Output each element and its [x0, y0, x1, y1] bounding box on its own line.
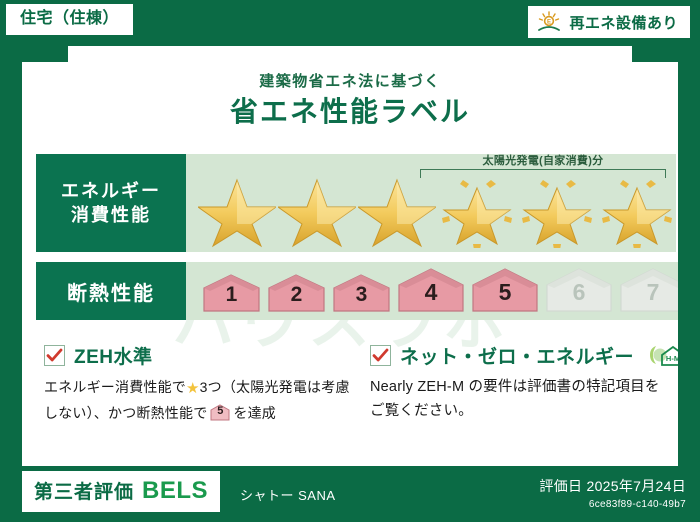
check-icon: [372, 347, 389, 364]
label-panel: ハウスラボ 建築物省エネ法に基づく 省エネ性能ラベル エネルギー 消費性能 太陽…: [22, 46, 678, 466]
property-name: シャトー SANA: [240, 485, 336, 504]
svg-text:ZEH-M: ZEH-M: [688, 359, 700, 364]
star-filled-solar: [518, 174, 596, 248]
nzeb-description: Nearly ZEH-M の要件は評価書の特記項目をご覧ください。: [370, 376, 670, 424]
nzeb-checkbox[interactable]: [370, 345, 391, 366]
star-filled-solar: [598, 174, 676, 248]
label-title: 省エネ性能ラベル: [22, 90, 678, 130]
star-filled: [278, 174, 356, 248]
nearly-zeh-m-logo: H-M Nearly ZEH-M: [647, 343, 700, 369]
svg-text:E: E: [547, 20, 551, 26]
label-subtitle: 建築物省エネ法に基づく: [22, 70, 678, 91]
energy-performance-label: 住宅（住棟） E 再エネ設備あり ハウスラボ 建築物省エネ法に基づく 省エネ性能…: [0, 0, 700, 522]
bels-logo-text: BELS: [142, 477, 208, 505]
inline-house-badge: 5: [209, 404, 231, 421]
insulation-level-value: 4: [395, 279, 467, 306]
insulation-level-value: 7: [617, 279, 689, 306]
insulation-level-2: 2: [265, 274, 328, 314]
insulation-level-5: 5: [469, 268, 541, 314]
zeh-description: エネルギー消費性能で★3つ（太陽光発電は考慮しない）、かつ断熱性能で 5 を達成: [44, 376, 362, 425]
insulation-level-value: 1: [200, 283, 263, 307]
inline-star-icon: ★: [186, 380, 200, 397]
zeh-desc-part-a: エネルギー消費性能で: [44, 379, 186, 395]
insulation-performance-label: 断熱性能: [36, 262, 186, 320]
bels-evaluation-box: 第三者評価 BELS: [22, 471, 220, 512]
svg-text:Nearly: Nearly: [688, 354, 700, 359]
building-type-tag: 住宅（住棟）: [6, 4, 133, 35]
insulation-performance-row: 断熱性能 1 2: [36, 262, 664, 320]
inline-house-badge-value: 5: [209, 402, 231, 420]
net-zero-energy-block: ネット・ゼロ・エネルギー H-M Nearly ZEH-M Nearly ZEH…: [370, 342, 670, 424]
insulation-level-value: 3: [330, 283, 393, 307]
zeh-heading: ZEH水準: [74, 342, 153, 369]
insulation-rating-area: 1 2 3: [186, 262, 689, 320]
energy-rating-area: 太陽光発電(自家消費)分: [186, 154, 676, 252]
energy-label-line1: エネルギー: [61, 179, 161, 203]
energy-star-rating: [186, 174, 676, 248]
insulation-level-7: 7: [617, 268, 689, 314]
insulation-level-scale: 1 2 3: [186, 268, 689, 314]
insulation-level-1: 1: [200, 274, 263, 314]
solar-portion-label: 太陽光発電(自家消費)分: [420, 155, 666, 167]
insulation-level-value: 6: [543, 279, 615, 306]
nzeb-heading: ネット・ゼロ・エネルギー: [400, 342, 634, 369]
renewable-badge-label: 再エネ設備あり: [569, 12, 678, 33]
energy-performance-row: エネルギー 消費性能 太陽光発電(自家消費)分: [36, 154, 664, 252]
solar-sun-icon: E: [536, 11, 562, 33]
zeh-desc-part-d: を達成: [233, 405, 276, 421]
nzeb-heading-row: ネット・ゼロ・エネルギー H-M Nearly ZEH-M: [370, 342, 670, 369]
evaluation-date: 評価日 2025年7月24日: [539, 476, 686, 496]
energy-label-line2: 消費性能: [71, 203, 151, 227]
zeh-standard-block: ZEH水準 エネルギー消費性能で★3つ（太陽光発電は考慮しない）、かつ断熱性能で…: [44, 342, 362, 425]
zeh-heading-row: ZEH水準: [44, 342, 362, 369]
insulation-level-value: 5: [469, 279, 541, 306]
renewable-equipment-badge: E 再エネ設備あり: [528, 6, 690, 38]
svg-text:H-M: H-M: [666, 354, 680, 363]
star-filled: [358, 174, 436, 248]
zeh-checkbox[interactable]: [44, 345, 65, 366]
zeh-desc-part-b: 3つ（太陽光発電: [200, 379, 307, 395]
star-filled: [198, 174, 276, 248]
evaluation-meta: 評価日 2025年7月24日 6ce83f89-c140-49b7: [539, 476, 686, 510]
document-id: 6ce83f89-c140-49b7: [539, 499, 686, 510]
insulation-level-6: 6: [543, 268, 615, 314]
check-icon: [46, 347, 63, 364]
insulation-level-3: 3: [330, 274, 393, 314]
third-party-eval-label: 第三者評価: [34, 477, 134, 504]
star-filled-solar: [438, 174, 516, 248]
insulation-level-4: 4: [395, 268, 467, 314]
insulation-level-value: 2: [265, 283, 328, 307]
energy-performance-label: エネルギー 消費性能: [36, 154, 186, 252]
